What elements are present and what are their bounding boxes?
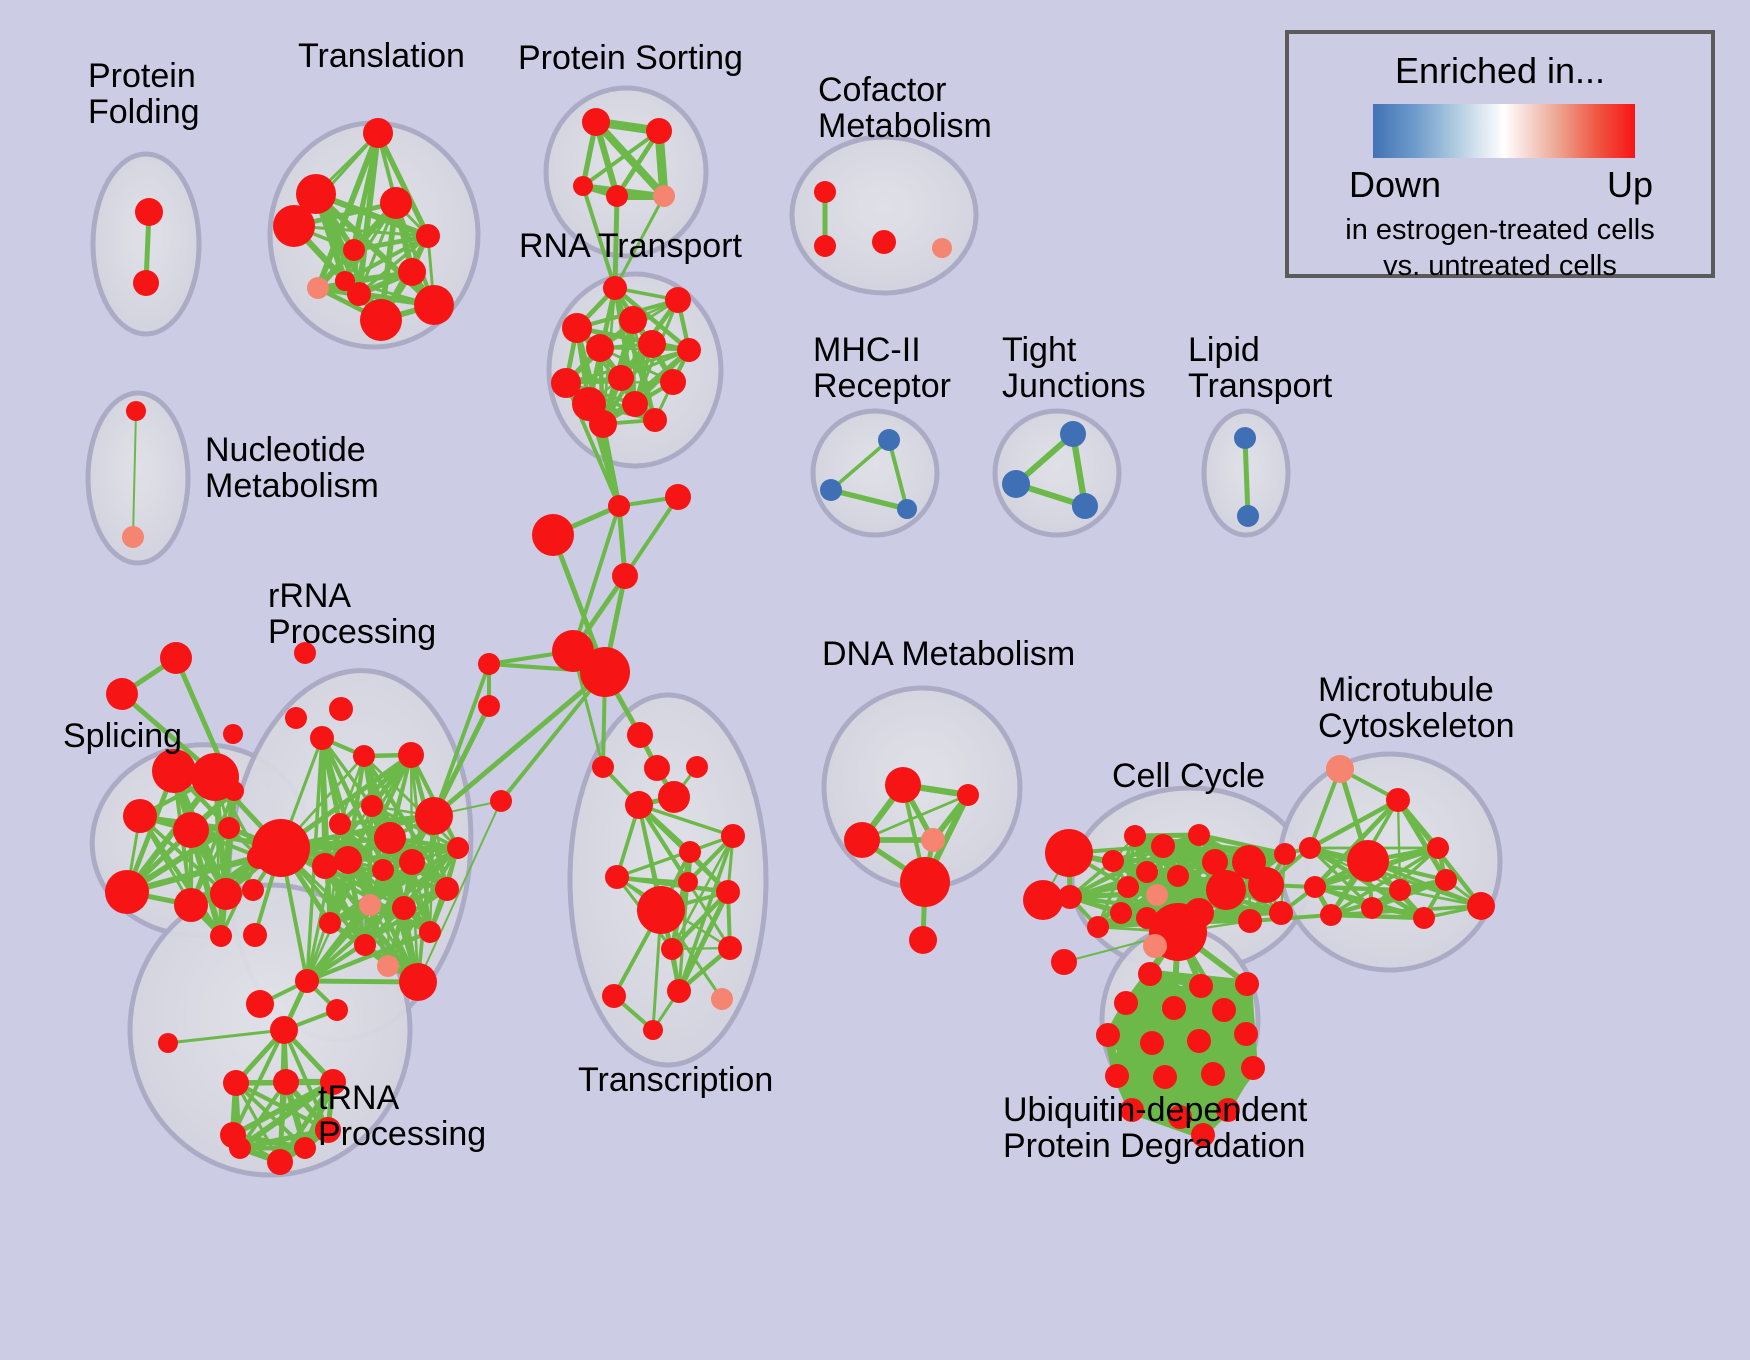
gene-set-node[interactable] [658, 781, 690, 813]
gene-set-node[interactable] [374, 822, 406, 854]
gene-set-node[interactable] [478, 695, 500, 717]
gene-set-node[interactable] [372, 859, 394, 881]
gene-set-node[interactable] [718, 936, 742, 960]
gene-set-node[interactable] [820, 479, 842, 501]
cluster-label-microtubule-cytoskeleton: Microtubule Cytoskeleton [1318, 672, 1515, 744]
gene-set-node[interactable] [721, 824, 745, 848]
gene-set-node[interactable] [1187, 1029, 1211, 1053]
gene-set-node[interactable] [1304, 876, 1326, 898]
gene-set-node[interactable] [415, 797, 453, 835]
gene-set-node[interactable] [152, 749, 196, 793]
gene-set-node[interactable] [1153, 1065, 1177, 1089]
gene-set-node[interactable] [398, 742, 424, 768]
gene-set-node[interactable] [814, 235, 836, 257]
gene-set-node[interactable] [123, 799, 157, 833]
gene-set-node[interactable] [1140, 1031, 1164, 1055]
gene-set-node[interactable] [273, 205, 315, 247]
cluster-label-lipid-transport: Lipid Transport [1188, 332, 1332, 404]
gene-set-node[interactable] [1269, 901, 1293, 925]
gene-set-node[interactable] [377, 955, 399, 977]
gene-set-node[interactable] [637, 886, 685, 934]
gene-set-node[interactable] [665, 484, 691, 510]
gene-set-node[interactable] [295, 969, 319, 993]
gene-set-node[interactable] [589, 410, 617, 438]
gene-set-node[interactable] [1102, 850, 1124, 872]
gene-set-node[interactable] [1105, 1064, 1129, 1088]
gene-set-node[interactable] [1188, 824, 1210, 846]
edge [1245, 438, 1248, 516]
gene-set-node[interactable] [334, 846, 362, 874]
gene-set-node[interactable] [1002, 470, 1030, 498]
gene-set-node[interactable] [1143, 934, 1167, 958]
gene-set-node[interactable] [582, 108, 610, 136]
gene-set-node[interactable] [273, 1069, 299, 1095]
gene-set-node[interactable] [335, 271, 355, 291]
gene-set-node[interactable] [1023, 880, 1063, 920]
gene-set-node[interactable] [1361, 897, 1383, 919]
gene-set-node[interactable] [1467, 892, 1495, 920]
gene-set-node[interactable] [1124, 825, 1146, 847]
gene-set-node[interactable] [532, 514, 574, 556]
gene-set-node[interactable] [1389, 879, 1411, 901]
cluster-label-protein-sorting: Protein Sorting [518, 40, 743, 76]
gene-set-node[interactable] [1146, 884, 1168, 906]
gene-set-node[interactable] [285, 707, 307, 729]
gene-set-node[interactable] [562, 313, 592, 343]
gene-set-node[interactable] [932, 238, 952, 258]
gene-set-node[interactable] [1136, 861, 1158, 883]
gene-set-node[interactable] [678, 872, 698, 892]
gene-set-node[interactable] [643, 408, 667, 432]
cluster-label-nucleotide-metabolism: Nucleotide Metabolism [205, 432, 379, 504]
gene-set-node[interactable] [135, 198, 163, 226]
cluster-label-splicing: Splicing [63, 718, 182, 754]
gene-set-node[interactable] [210, 878, 242, 910]
cluster-label-protein-folding: Protein Folding [88, 58, 200, 130]
gene-set-node[interactable] [878, 429, 900, 451]
gene-set-node[interactable] [1072, 493, 1098, 519]
gene-set-node[interactable] [677, 338, 701, 362]
cluster-label-mhc-ii-receptor: MHC-II Receptor [813, 332, 951, 404]
legend-title: Enriched in... [1289, 50, 1711, 92]
gene-set-node[interactable] [1320, 904, 1342, 926]
gene-set-node[interactable] [573, 176, 593, 196]
gene-set-node[interactable] [686, 756, 708, 778]
gene-set-node[interactable] [1238, 909, 1262, 933]
gene-set-node[interactable] [627, 722, 653, 748]
gene-set-node[interactable] [1167, 865, 1189, 887]
cluster-label-cell-cycle: Cell Cycle [1112, 758, 1265, 794]
gene-set-node[interactable] [1347, 840, 1389, 882]
gene-set-node[interactable] [252, 819, 310, 877]
gene-set-node[interactable] [122, 526, 144, 548]
legend-subtitle-line-2: vs. untreated cells [1289, 250, 1711, 283]
gene-set-node[interactable] [229, 1137, 251, 1159]
gene-set-node[interactable] [1189, 974, 1213, 998]
gene-set-node[interactable] [1413, 907, 1435, 929]
gene-set-node[interactable] [1274, 843, 1296, 865]
gene-set-node[interactable] [105, 870, 149, 914]
gene-set-node[interactable] [909, 926, 937, 954]
gene-set-node[interactable] [310, 726, 334, 750]
cluster-label-transcription: Transcription [578, 1062, 773, 1098]
gene-set-node[interactable] [1386, 788, 1410, 812]
gene-set-node[interactable] [605, 865, 629, 889]
gene-set-node[interactable] [343, 239, 365, 261]
gene-set-node[interactable] [1326, 755, 1354, 783]
gene-set-node[interactable] [667, 979, 691, 1003]
gene-set-node[interactable] [580, 647, 630, 697]
gene-set-node[interactable] [1237, 505, 1259, 527]
cluster-label-trna-processing: tRNA Processing [318, 1080, 486, 1152]
gene-set-node[interactable] [1206, 870, 1246, 910]
legend-down-label: Down [1349, 164, 1441, 206]
gene-set-node[interactable] [592, 756, 614, 778]
gene-set-node[interactable] [1435, 869, 1457, 891]
gene-set-node[interactable] [619, 306, 647, 334]
gene-set-node[interactable] [661, 938, 683, 960]
gene-set-node[interactable] [1201, 1062, 1225, 1086]
gene-set-node[interactable] [1117, 876, 1139, 898]
gene-set-node[interactable] [1162, 996, 1186, 1020]
cluster-label-rna-transport: RNA Transport [519, 228, 742, 264]
gene-set-node[interactable] [158, 1033, 178, 1053]
gene-set-node[interactable] [608, 495, 630, 517]
gene-set-node[interactable] [419, 921, 441, 943]
gene-set-node[interactable] [312, 853, 338, 879]
gene-set-node[interactable] [173, 812, 209, 848]
gene-set-node[interactable] [326, 999, 348, 1021]
legend-color-gradient-bar [1373, 104, 1635, 158]
gene-set-node[interactable] [602, 984, 626, 1008]
gene-set-node[interactable] [399, 849, 425, 875]
gene-set-node[interactable] [160, 642, 192, 674]
gene-set-node[interactable] [392, 896, 416, 920]
gene-set-node[interactable] [329, 697, 353, 721]
enrichment-network-figure: Protein FoldingTranslationNucleotide Met… [0, 0, 1750, 1360]
cluster-label-tight-junctions: Tight Junctions [1002, 332, 1146, 404]
gene-set-node[interactable] [307, 277, 329, 299]
gene-set-node[interactable] [644, 755, 670, 781]
gene-set-node[interactable] [897, 499, 917, 519]
gene-set-node[interactable] [872, 230, 896, 254]
gene-set-node[interactable] [1138, 962, 1162, 986]
gene-set-node[interactable] [398, 258, 426, 286]
gene-set-node[interactable] [174, 888, 208, 922]
cluster-hull-cofactor-metabolism[interactable] [792, 137, 976, 293]
gene-set-node[interactable] [242, 879, 264, 901]
gene-set-node[interactable] [478, 653, 500, 675]
gene-set-node[interactable] [716, 880, 740, 904]
gene-set-node[interactable] [625, 791, 653, 819]
gene-set-node[interactable] [814, 181, 836, 203]
cluster-hull-mhc-ii-receptor[interactable] [813, 411, 937, 535]
gene-set-node[interactable] [679, 841, 701, 863]
gene-set-node[interactable] [844, 822, 880, 858]
gene-set-node[interactable] [210, 925, 232, 947]
gene-set-node[interactable] [606, 185, 628, 207]
cluster-label-dna-metabolism: DNA Metabolism [822, 636, 1075, 672]
gene-set-node[interactable] [653, 185, 675, 207]
gene-set-node[interactable] [1045, 829, 1093, 877]
gene-set-node[interactable] [191, 753, 239, 801]
gene-set-node[interactable] [106, 678, 138, 710]
gene-set-node[interactable] [643, 1020, 663, 1040]
gene-set-node[interactable] [638, 330, 666, 358]
gene-set-node[interactable] [416, 224, 440, 248]
gene-set-node[interactable] [1235, 972, 1259, 996]
cluster-label-ubiquitin-protein-degradation: Ubiquitin-dependent Protein Degradation [1003, 1092, 1307, 1164]
gene-set-node[interactable] [711, 988, 733, 1010]
gene-set-node[interactable] [646, 118, 672, 144]
gene-set-node[interactable] [1096, 1023, 1120, 1047]
gene-set-node[interactable] [921, 828, 945, 852]
gene-set-node[interactable] [133, 270, 159, 296]
gene-set-node[interactable] [218, 817, 240, 839]
gene-set-node[interactable] [399, 963, 437, 1001]
gene-set-node[interactable] [1427, 837, 1449, 859]
gene-set-node[interactable] [885, 767, 921, 803]
gene-set-node[interactable] [1051, 949, 1077, 975]
legend-box: Enriched in... Down Up in estrogen-treat… [1285, 30, 1715, 278]
gene-set-node[interactable] [294, 1137, 316, 1159]
gene-set-node[interactable] [223, 1070, 249, 1096]
gene-set-node[interactable] [490, 790, 512, 812]
gene-set-node[interactable] [435, 877, 459, 901]
legend-subtitle-line-1: in estrogen-treated cells [1289, 214, 1711, 247]
gene-set-node[interactable] [1110, 902, 1132, 924]
edge [625, 497, 678, 576]
gene-set-node[interactable] [126, 401, 146, 421]
gene-set-node[interactable] [957, 784, 979, 806]
gene-set-node[interactable] [1299, 837, 1321, 859]
gene-set-node[interactable] [1241, 1056, 1265, 1080]
gene-set-node[interactable] [900, 857, 950, 907]
gene-set-node[interactable] [622, 391, 648, 417]
cluster-label-translation: Translation [298, 38, 465, 74]
gene-set-node[interactable] [243, 923, 267, 947]
gene-set-node[interactable] [246, 990, 274, 1018]
gene-set-node[interactable] [612, 563, 638, 589]
gene-set-node[interactable] [1060, 421, 1086, 447]
gene-set-node[interactable] [1212, 998, 1236, 1022]
gene-set-node[interactable] [1234, 427, 1256, 449]
gene-set-node[interactable] [586, 334, 614, 362]
cluster-label-cofactor-metabolism: Cofactor Metabolism [818, 72, 992, 144]
gene-set-node[interactable] [603, 276, 627, 300]
gene-set-node[interactable] [354, 934, 376, 956]
gene-set-node[interactable] [1087, 916, 1109, 938]
gene-set-node[interactable] [414, 285, 454, 325]
gene-set-node[interactable] [1114, 991, 1138, 1015]
gene-set-node[interactable] [1151, 834, 1175, 858]
cluster-label-rrna-processing: rRNA Processing [268, 578, 436, 650]
gene-set-node[interactable] [270, 1016, 298, 1044]
legend-up-label: Up [1607, 164, 1653, 206]
gene-set-node[interactable] [353, 745, 375, 767]
gene-set-node[interactable] [1248, 867, 1284, 903]
gene-set-node[interactable] [447, 837, 469, 859]
gene-set-node[interactable] [361, 795, 383, 817]
gene-set-node[interactable] [665, 287, 691, 313]
gene-set-node[interactable] [329, 813, 351, 835]
gene-set-node[interactable] [363, 118, 393, 148]
gene-set-node[interactable] [1234, 1022, 1258, 1046]
gene-set-node[interactable] [223, 724, 243, 744]
gene-set-node[interactable] [360, 299, 402, 341]
gene-set-node[interactable] [319, 912, 341, 934]
gene-set-node[interactable] [660, 369, 686, 395]
gene-set-node[interactable] [267, 1149, 293, 1175]
gene-set-node[interactable] [359, 894, 381, 916]
gene-set-node[interactable] [608, 365, 634, 391]
gene-set-node[interactable] [380, 187, 412, 219]
